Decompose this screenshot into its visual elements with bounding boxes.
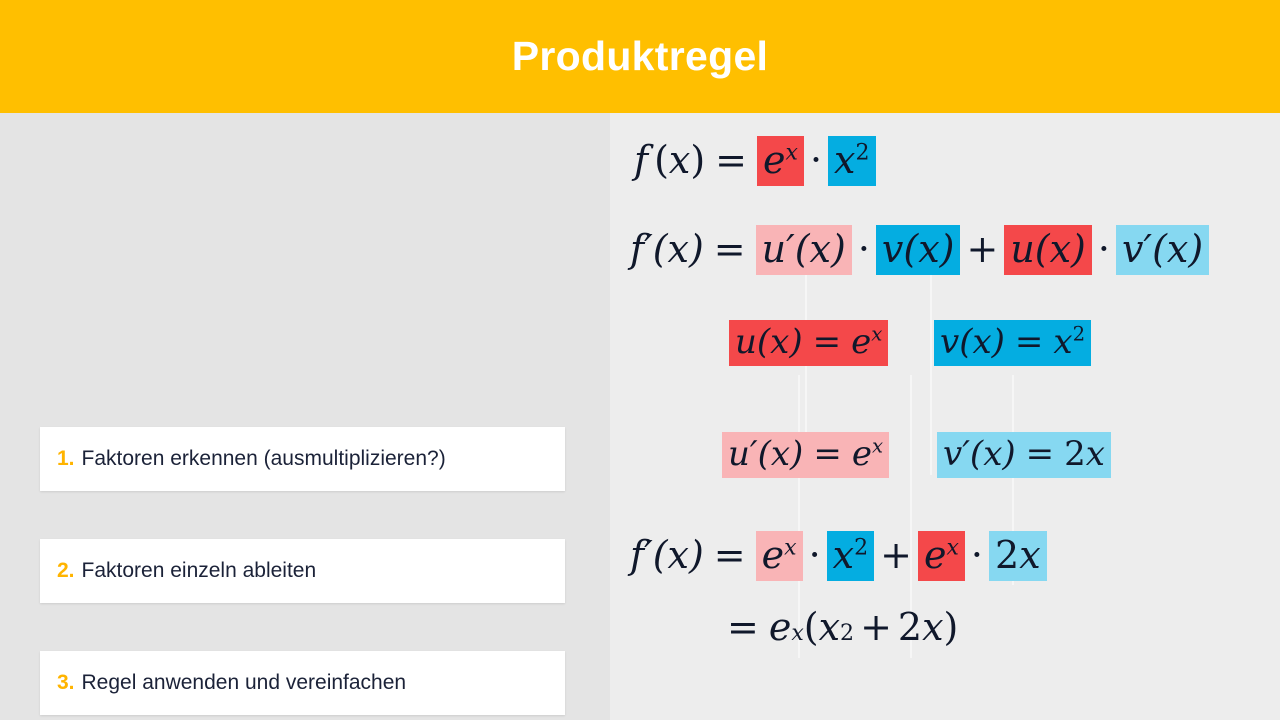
equation-v-derivative: v′(x)=2x xyxy=(937,432,1111,478)
eq-fx-term-u: ex xyxy=(757,136,804,186)
steps-panel: 1. Faktoren erkennen (ausmultiplizieren?… xyxy=(0,113,610,720)
eq-subst-t1-exp: x xyxy=(784,535,796,560)
eq-rule-equals: = xyxy=(714,227,746,271)
eq-rule-lhs: f′(x) xyxy=(630,227,704,271)
eq-final-open: ( xyxy=(804,605,819,649)
eq-fx-term-v: x2 xyxy=(828,136,875,186)
eq-ux-box: u(x)=ex xyxy=(729,320,888,366)
eq-ux-equals: = xyxy=(813,322,842,362)
eq-rule-dot-2: · xyxy=(1098,227,1110,271)
eq-rule-u-prime: u′(x) xyxy=(756,225,852,275)
eq-final-inner-base: x xyxy=(819,605,840,649)
eq-vx-box: v(x)=x2 xyxy=(934,320,1091,366)
eq-subst-t2-base: x xyxy=(833,533,854,577)
equation-u-definition: u(x)=ex xyxy=(729,320,888,366)
equation-product-rule: f′(x)=u′(x)·v(x)+u(x)·v′(x) xyxy=(630,225,1209,275)
eq-fx-dot: · xyxy=(810,138,822,182)
eq-rule-v-prime: v′(x) xyxy=(1116,225,1209,275)
step-number-2: 2. xyxy=(57,559,75,583)
eq-subst-term-2: x2 xyxy=(827,531,874,581)
eq-fx-lhs-close: ) xyxy=(690,138,705,182)
eq-subst-t4-coefficient: 2 xyxy=(995,533,1019,577)
slide-root: Produktregel 1. Faktoren erkennen (ausmu… xyxy=(0,0,1280,720)
step-number-3: 3. xyxy=(57,671,75,695)
eq-fx-lhs-open: ( xyxy=(654,138,669,182)
eq-subst-t1-base: e xyxy=(762,533,785,577)
eq-fx-equals: = xyxy=(715,138,747,182)
equation-function: f(x)=ex·x2 xyxy=(634,136,876,186)
eq-subst-lhs: f′(x) xyxy=(630,533,704,577)
eq-dux-rhs-exp: x xyxy=(872,435,883,458)
equation-simplified: =ex(x2+2x) xyxy=(727,605,958,649)
equation-v-definition: v(x)=x2 xyxy=(934,320,1091,366)
step-item-1[interactable]: 1. Faktoren erkennen (ausmultiplizieren?… xyxy=(40,427,565,491)
eq-ux-rhs-base: e xyxy=(851,322,871,362)
eq-subst-dot-2: · xyxy=(971,533,983,577)
eq-dux-box: u′(x)=ex xyxy=(722,432,889,478)
eq-subst-equals: = xyxy=(714,533,746,577)
eq-rule-plus: + xyxy=(966,227,998,271)
eq-ux-lhs: u(x) xyxy=(735,322,803,362)
eq-final-equals: = xyxy=(727,605,759,649)
step-item-2[interactable]: 2. Faktoren einzeln ableiten xyxy=(40,539,565,603)
slide-header: Produktregel xyxy=(0,0,1280,113)
equation-substituted: f′(x)=ex·x2+ex·2x xyxy=(630,531,1047,581)
eq-fx-lhs-var: x xyxy=(669,138,690,182)
eq-subst-t3-exp: x xyxy=(946,535,958,560)
eq-dvx-equals: = xyxy=(1026,434,1055,474)
connector-line-v xyxy=(930,265,932,475)
eq-dux-lhs: u′(x) xyxy=(728,434,803,474)
eq-vx-rhs-exp: 2 xyxy=(1073,323,1086,346)
eq-dvx-box: v′(x)=2x xyxy=(937,432,1111,478)
eq-subst-t2-exp: 2 xyxy=(854,535,868,560)
eq-rule-v: v(x) xyxy=(876,225,961,275)
eq-rule-u: u(x) xyxy=(1004,225,1092,275)
eq-dvx-lhs: v′(x) xyxy=(943,434,1016,474)
eq-subst-term-1: ex xyxy=(756,531,803,581)
page-title: Produktregel xyxy=(512,33,769,80)
eq-ux-rhs-exp: x xyxy=(871,323,882,346)
eq-fx-term-v-base: x xyxy=(834,138,855,182)
eq-subst-term-3: ex xyxy=(918,531,965,581)
eq-dux-equals: = xyxy=(813,434,842,474)
eq-final-plus: + xyxy=(860,605,892,649)
step-label-1: Faktoren erkennen (ausmultiplizieren?) xyxy=(82,447,446,471)
eq-final-close: ) xyxy=(944,605,959,649)
eq-dvx-coefficient: 2 xyxy=(1064,434,1086,474)
eq-fx-term-u-exp: x xyxy=(786,140,798,165)
step-label-2: Faktoren einzeln ableiten xyxy=(82,559,317,583)
eq-final-factor-base: e xyxy=(769,605,792,649)
eq-dvx-var: x xyxy=(1086,434,1105,474)
eq-subst-plus: + xyxy=(880,533,912,577)
eq-fx-term-v-exp: 2 xyxy=(855,140,869,165)
eq-final-inner-coefficient: 2 xyxy=(898,605,922,649)
eq-rule-dot-1: · xyxy=(858,227,870,271)
eq-final-inner-var: x xyxy=(922,605,943,649)
eq-subst-t3-base: e xyxy=(924,533,947,577)
eq-fx-lhs-f: f xyxy=(634,138,648,182)
eq-fx-term-u-base: e xyxy=(763,138,786,182)
step-item-3[interactable]: 3. Regel anwenden und vereinfachen xyxy=(40,651,565,715)
eq-vx-lhs: v(x) xyxy=(940,322,1005,362)
step-label-3: Regel anwenden und vereinfachen xyxy=(82,671,407,695)
eq-subst-term-4: 2x xyxy=(989,531,1047,581)
step-number-1: 1. xyxy=(57,447,75,471)
eq-vx-rhs-base: x xyxy=(1053,322,1072,362)
eq-vx-equals: = xyxy=(1015,322,1044,362)
eq-subst-dot-1: · xyxy=(809,533,821,577)
equation-u-derivative: u′(x)=ex xyxy=(722,432,889,478)
eq-subst-t4-var: x xyxy=(1019,533,1040,577)
eq-dux-rhs-base: e xyxy=(852,434,872,474)
